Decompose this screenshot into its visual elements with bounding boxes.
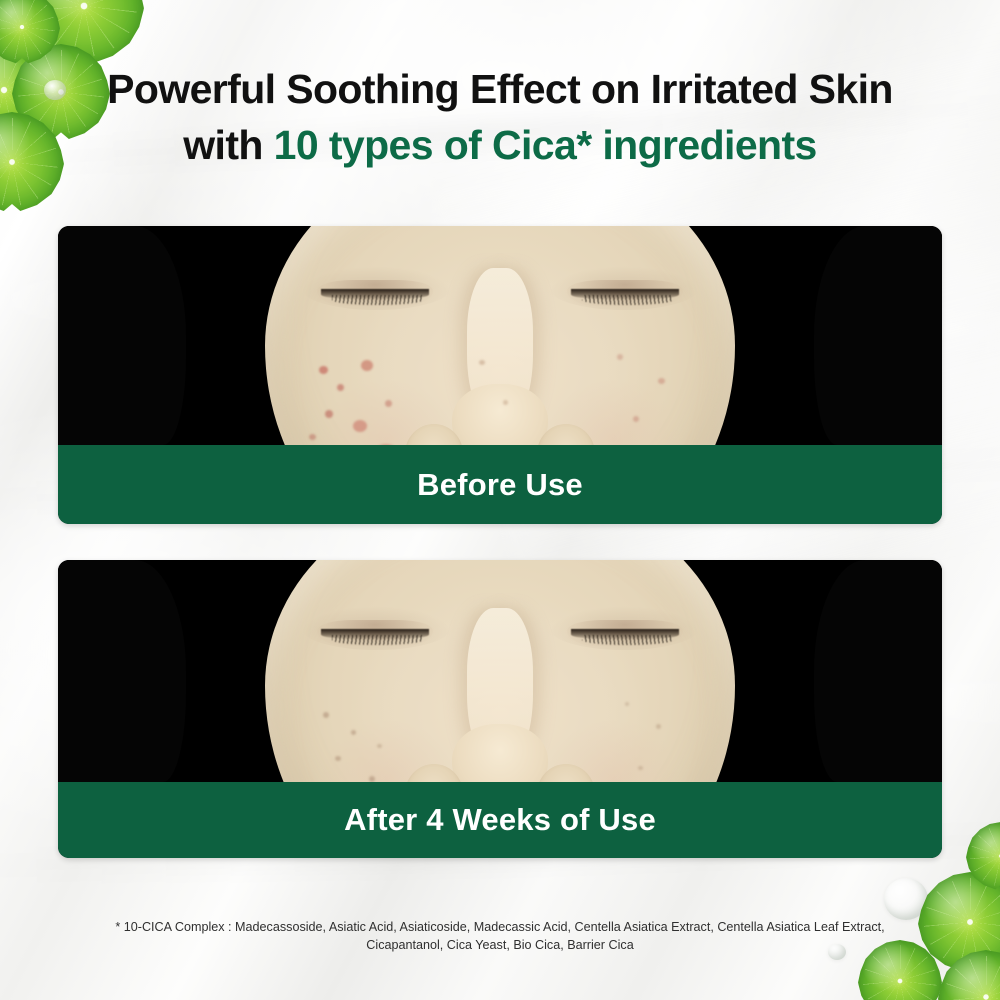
before-caption-label: Before Use (417, 467, 583, 503)
after-comparison-panel: After 4 Weeks of Use (58, 560, 942, 858)
headline-line-2-prefix: with (183, 122, 273, 168)
hair-right (814, 560, 942, 782)
headline-line-1: Powerful Soothing Effect on Irritated Sk… (0, 64, 1000, 114)
before-comparison-panel: Before Use (58, 226, 942, 524)
hair-left (58, 560, 186, 782)
footnote-line-2: Cicapantanol, Cica Yeast, Bio Cica, Barr… (0, 936, 1000, 954)
centella-leaf-icon (938, 950, 1000, 1000)
centella-leaf-icon (966, 822, 1000, 890)
blemish-layer-after (265, 560, 735, 782)
page-title: Powerful Soothing Effect on Irritated Sk… (0, 64, 1000, 170)
headline-accent-text: 10 types of Cica* ingredients (274, 122, 817, 168)
footnote: * 10-CICA Complex : Madecassoside, Asiat… (0, 918, 1000, 955)
face-image (230, 560, 770, 782)
face-shape (265, 560, 735, 782)
before-photo (58, 226, 942, 445)
headline-line-2: with 10 types of Cica* ingredients (0, 120, 1000, 170)
centella-leaf-icon (0, 0, 60, 64)
footnote-line-1: * 10-CICA Complex : Madecassoside, Asiat… (0, 918, 1000, 936)
after-photo (58, 560, 942, 782)
face-shape (265, 226, 735, 445)
promo-page: Powerful Soothing Effect on Irritated Sk… (0, 0, 1000, 1000)
before-caption-bar: Before Use (58, 445, 942, 524)
face-image (230, 226, 770, 445)
hair-right (814, 226, 942, 445)
hair-left (58, 226, 186, 445)
after-caption-label: After 4 Weeks of Use (344, 802, 656, 838)
centella-leaf-icon (0, 0, 70, 64)
blemish-layer-before (265, 226, 735, 445)
centella-leaf-icon (24, 0, 144, 64)
after-caption-bar: After 4 Weeks of Use (58, 782, 942, 858)
water-droplet-icon (884, 878, 928, 920)
